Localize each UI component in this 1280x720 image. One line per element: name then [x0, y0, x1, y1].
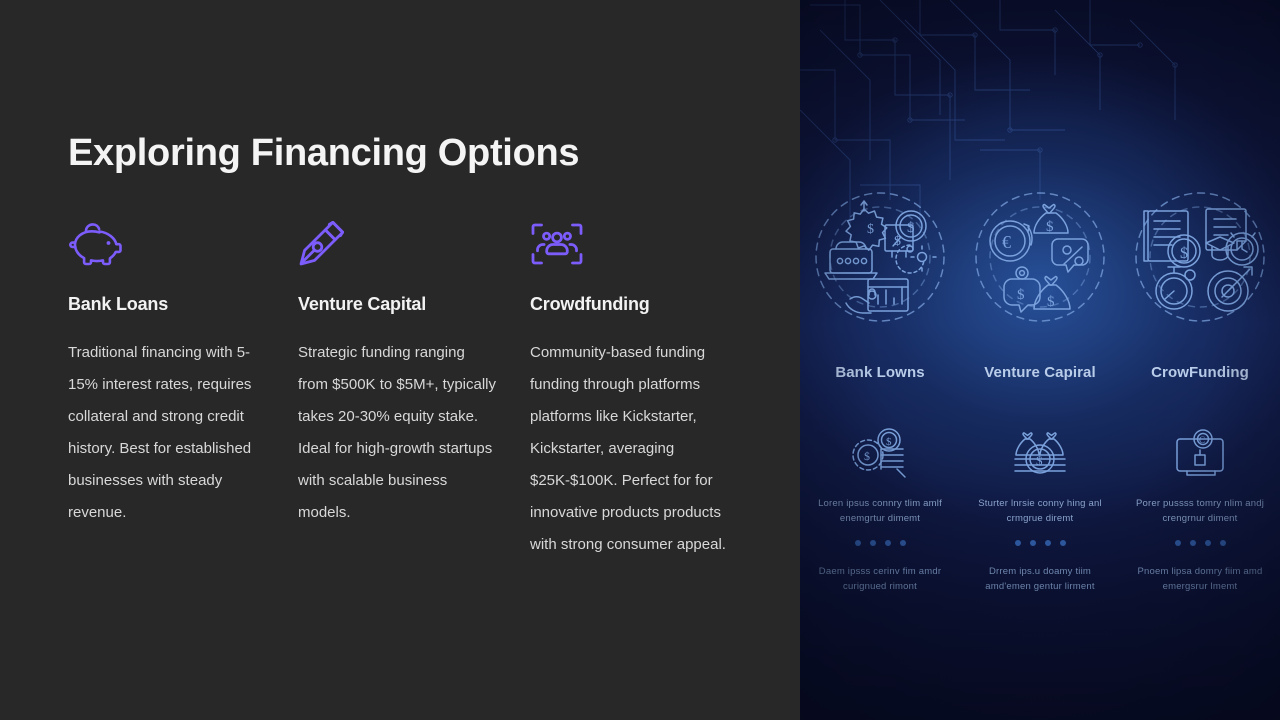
feature-card-row: Bank Loans Traditional financing with 5-… — [68, 220, 800, 561]
feature-card-title: Venture Capital — [298, 294, 496, 315]
panel-vignette — [800, 0, 1280, 720]
piggy-bank-icon — [68, 220, 266, 268]
page-title: Exploring Financing Options — [68, 132, 800, 176]
left-content-panel: Exploring Financing Options Bank Loans T… — [0, 0, 800, 720]
feature-card-body: Strategic funding ranging from $500K to … — [298, 337, 496, 529]
people-scan-icon — [530, 220, 728, 268]
feature-card-crowdfunding: Crowdfunding Community-based funding fun… — [530, 220, 762, 561]
feature-card-bank-loans: Bank Loans Traditional financing with 5-… — [68, 220, 300, 561]
right-illustration-panel: $ $ $ — [800, 0, 1280, 720]
feature-card-body: Traditional financing with 5-15% interes… — [68, 337, 266, 529]
slide-root: Exploring Financing Options Bank Loans T… — [0, 0, 1280, 720]
feature-card-title: Crowdfunding — [530, 294, 728, 315]
feature-card-venture-capital: Venture Capital Strategic funding rangin… — [298, 220, 530, 561]
fountain-pen-nib-icon — [298, 220, 496, 268]
feature-card-body: Community-based funding funding through … — [530, 337, 728, 561]
feature-card-title: Bank Loans — [68, 294, 266, 315]
